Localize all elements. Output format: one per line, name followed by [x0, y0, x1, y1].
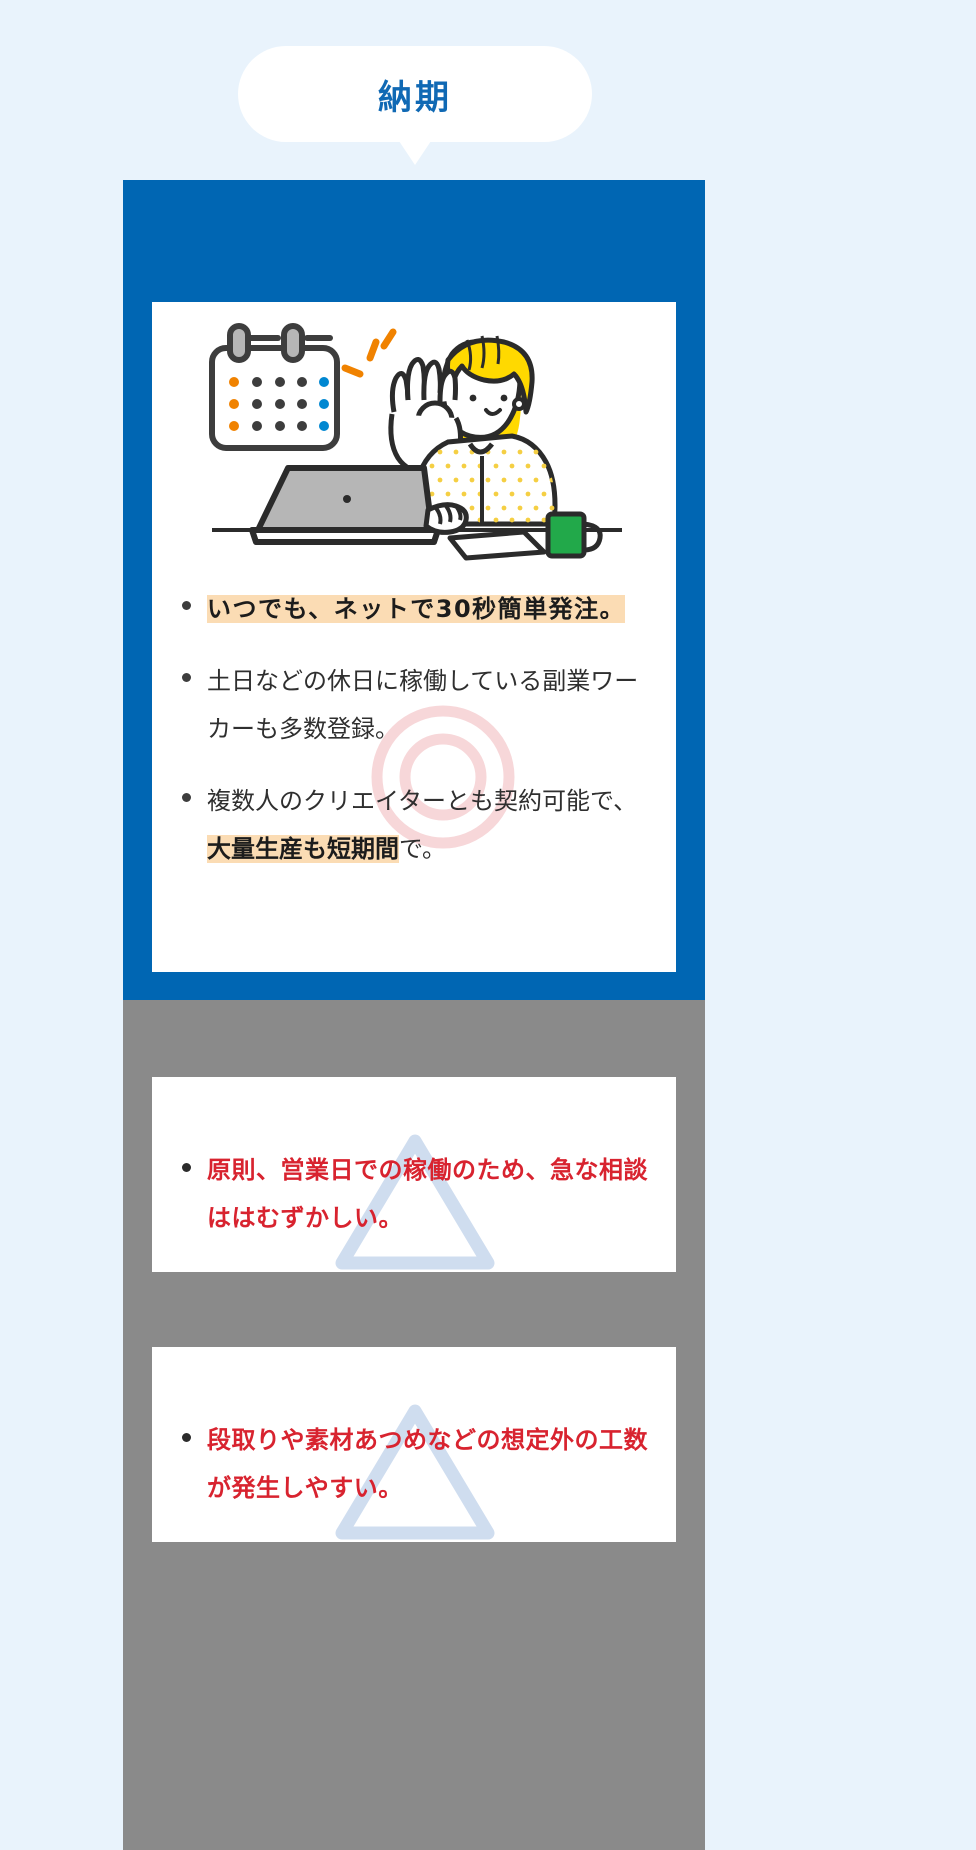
page-title: 納期 [378, 70, 452, 119]
section-title-badge: 納期 [238, 46, 592, 142]
bullet-dot-icon [182, 673, 191, 682]
bullet-dot-icon [182, 1433, 191, 1442]
highlighted-text: 大量生産も短期間 [207, 835, 399, 863]
bullet-text: いつでも、ネットで30秒簡単発注。 [207, 585, 650, 633]
illustration-area [152, 302, 676, 567]
woman-ok-sign-laptop-calendar-icon [152, 302, 676, 567]
cons-card-2: 段取りや素材あつめなどの想定外の工数が発生しやすい。 [152, 1347, 676, 1542]
bullet-dot-icon [182, 1163, 191, 1172]
highlighted-text: いつでも、ネットで30秒簡単発注。 [207, 595, 625, 623]
bullet-text-part: で。 [399, 835, 446, 863]
cons-bullet-list-2: 段取りや素材あつめなどの想定外の工数が発生しやすい。 [152, 1347, 676, 1542]
bullet-dot-icon [182, 601, 191, 610]
list-item: 土日などの休日に稼働している副業ワーカーも多数登録。 [178, 657, 650, 753]
cons-bullet-list-1: 原則、営業日での稼働のため、急な相談ははむずかしい。 [152, 1077, 676, 1272]
pros-card: いつでも、ネットで30秒簡単発注。 土日などの休日に稼働している副業ワーカーも多… [152, 302, 676, 972]
pros-bullet-list: いつでも、ネットで30秒簡単発注。 土日などの休日に稼働している副業ワーカーも多… [152, 567, 676, 873]
bullet-text-part: 複数人のクリエイターとも契約可能で、 [207, 787, 637, 815]
bullet-text: 土日などの休日に稼働している副業ワーカーも多数登録。 [207, 657, 650, 753]
list-item: 段取りや素材あつめなどの想定外の工数が発生しやすい。 [178, 1416, 650, 1512]
cons-text: 段取りや素材あつめなどの想定外の工数が発生しやすい。 [207, 1416, 650, 1512]
list-item: 複数人のクリエイターとも契約可能で、大量生産も短期間で。 [178, 777, 650, 873]
bullet-text: 複数人のクリエイターとも契約可能で、大量生産も短期間で。 [207, 777, 650, 873]
list-item: いつでも、ネットで30秒簡単発注。 [178, 585, 650, 633]
title-pill: 納期 [238, 46, 592, 142]
list-item: 原則、営業日での稼働のため、急な相談ははむずかしい。 [178, 1146, 650, 1242]
bullet-dot-icon [182, 793, 191, 802]
comparison-panel-page: 納期 [0, 0, 976, 1850]
cons-card-1: 原則、営業日での稼働のため、急な相談ははむずかしい。 [152, 1077, 676, 1272]
cons-text: 原則、営業日での稼働のため、急な相談ははむずかしい。 [207, 1146, 650, 1242]
title-pointer-tail [399, 141, 431, 165]
